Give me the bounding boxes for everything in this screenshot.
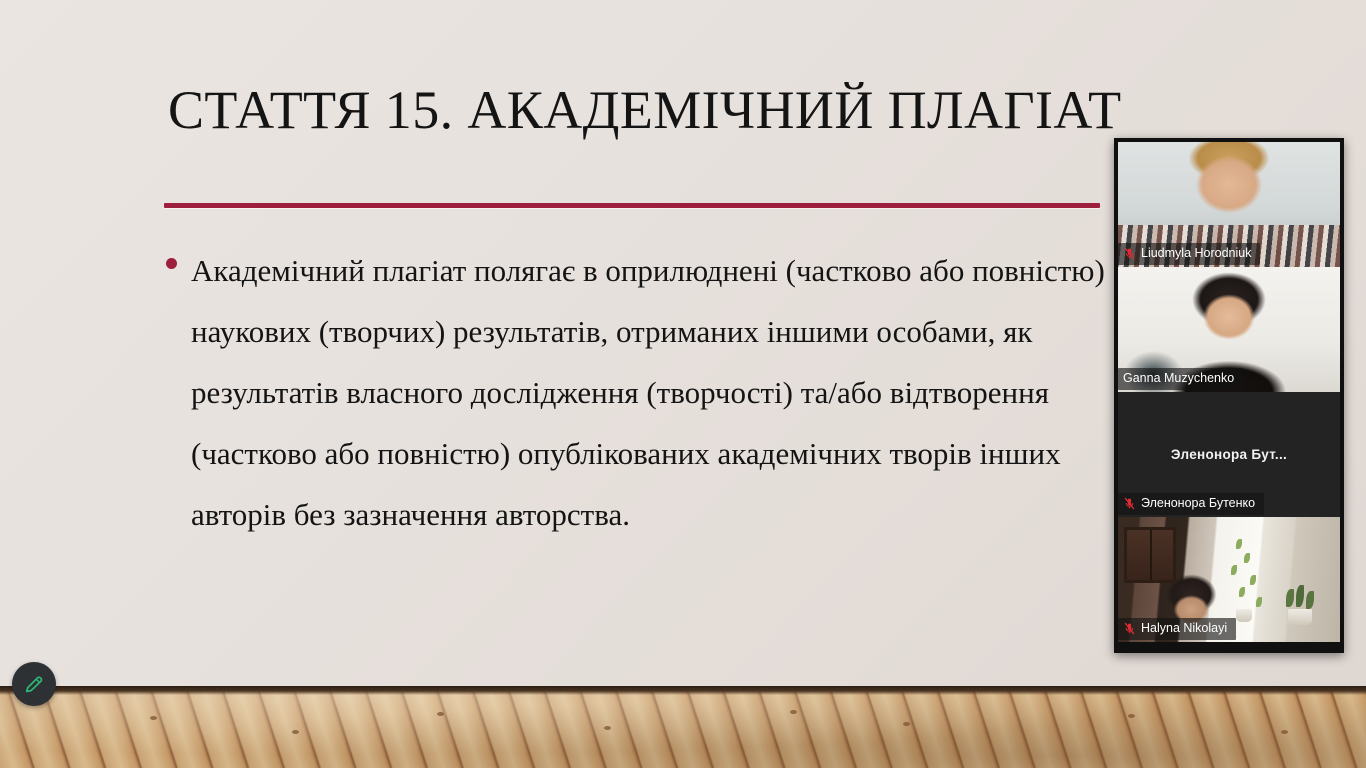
floor-knot [903, 722, 910, 726]
flower-pot [1236, 609, 1252, 622]
floor-knot [1281, 730, 1288, 734]
participant-name-text: Ganna Muzychenko [1123, 370, 1234, 387]
participant-name-label: Halyna Nikolayi [1118, 618, 1236, 640]
participant-name-label: Эленонора Бутенко [1118, 493, 1264, 515]
participant-tile-halyna-nikolayi[interactable]: Halyna Nikolayi [1118, 517, 1340, 642]
floor-knot [437, 712, 444, 716]
bullet-icon [166, 258, 177, 269]
slide-body-text: Академічний плагіат полягає в оприлюднен… [191, 240, 1126, 545]
floor-sheen [0, 686, 1366, 768]
title-accent-rule [164, 203, 1100, 208]
participant-name-label: Liudmyla Horodniuk [1118, 243, 1260, 265]
floor-knot [292, 730, 299, 734]
flower-pot [1288, 609, 1312, 625]
floor-decoration [0, 686, 1366, 768]
floor-knot [790, 710, 797, 714]
participant-tile-ganna-muzychenko[interactable]: Ganna Muzychenko [1118, 267, 1340, 392]
presentation-slide: СТАТТЯ 15. АКАДЕМІЧНИЙ ПЛАГІАТ Академічн… [0, 0, 1366, 768]
participant-name-text: Halyna Nikolayi [1141, 620, 1227, 637]
participant-tile-liudmyla-horodniuk[interactable]: Liudmyla Horodniuk [1118, 142, 1340, 267]
mic-muted-icon [1123, 622, 1136, 635]
mic-muted-icon [1123, 247, 1136, 260]
video-participant-panel[interactable]: Liudmyla Horodniuk Ganna Muzychenko Элен… [1114, 138, 1344, 653]
plant-leaf [1306, 591, 1314, 609]
mic-muted-icon [1123, 497, 1136, 510]
slide-body: Академічний плагіат полягає в оприлюднен… [166, 240, 1126, 545]
plant-leaf [1236, 539, 1242, 549]
plant-leaf [1296, 585, 1304, 607]
plant-leaf [1256, 597, 1262, 607]
floor-knot [604, 726, 611, 730]
cabinet-decoration [1124, 527, 1176, 583]
plant-leaf [1244, 553, 1250, 563]
participant-name-text: Liudmyla Horodniuk [1141, 245, 1251, 262]
plant-leaf [1231, 565, 1237, 575]
annotate-button[interactable] [12, 662, 56, 706]
plant-leaf [1286, 589, 1294, 607]
participant-name-text: Эленонора Бутенко [1141, 495, 1255, 512]
participant-name-label: Ganna Muzychenko [1118, 368, 1243, 390]
plant-leaf [1239, 587, 1245, 597]
floor-knot [150, 716, 157, 720]
pencil-icon [23, 673, 45, 695]
plant-leaf [1250, 575, 1256, 585]
page-title: СТАТТЯ 15. АКАДЕМІЧНИЙ ПЛАГІАТ [168, 80, 1118, 142]
participant-tile-elenonora-butenko[interactable]: Эленонора Бут... Эленонора Бутенко [1118, 392, 1340, 517]
floor-knot [1128, 714, 1135, 718]
